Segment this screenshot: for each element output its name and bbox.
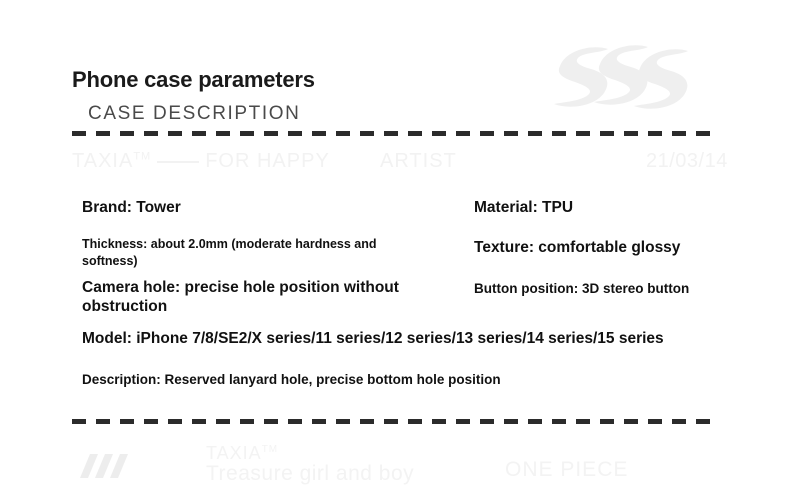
spec-material: Material: TPU <box>474 198 784 217</box>
spec-brand: Brand: Tower <box>82 198 462 217</box>
spec-texture: Texture: comfortable glossy <box>474 238 784 257</box>
spec-description: Description: Reserved lanyard hole, prec… <box>82 372 501 387</box>
spec-content: Brand: Tower Thickness: about 2.0mm (mod… <box>0 0 800 496</box>
phone-case-parameters-card: TAXIATMFOR HAPPY ARTIST 21/03/14 TAXIATM… <box>0 0 800 496</box>
spec-camera-hole: Camera hole: precise hole position witho… <box>82 278 412 317</box>
spec-model: Model: iPhone 7/8/SE2/X series/11 series… <box>82 330 664 348</box>
spec-button-position: Button position: 3D stereo button <box>474 280 784 298</box>
spec-thickness: Thickness: about 2.0mm (moderate hardnes… <box>82 236 417 270</box>
